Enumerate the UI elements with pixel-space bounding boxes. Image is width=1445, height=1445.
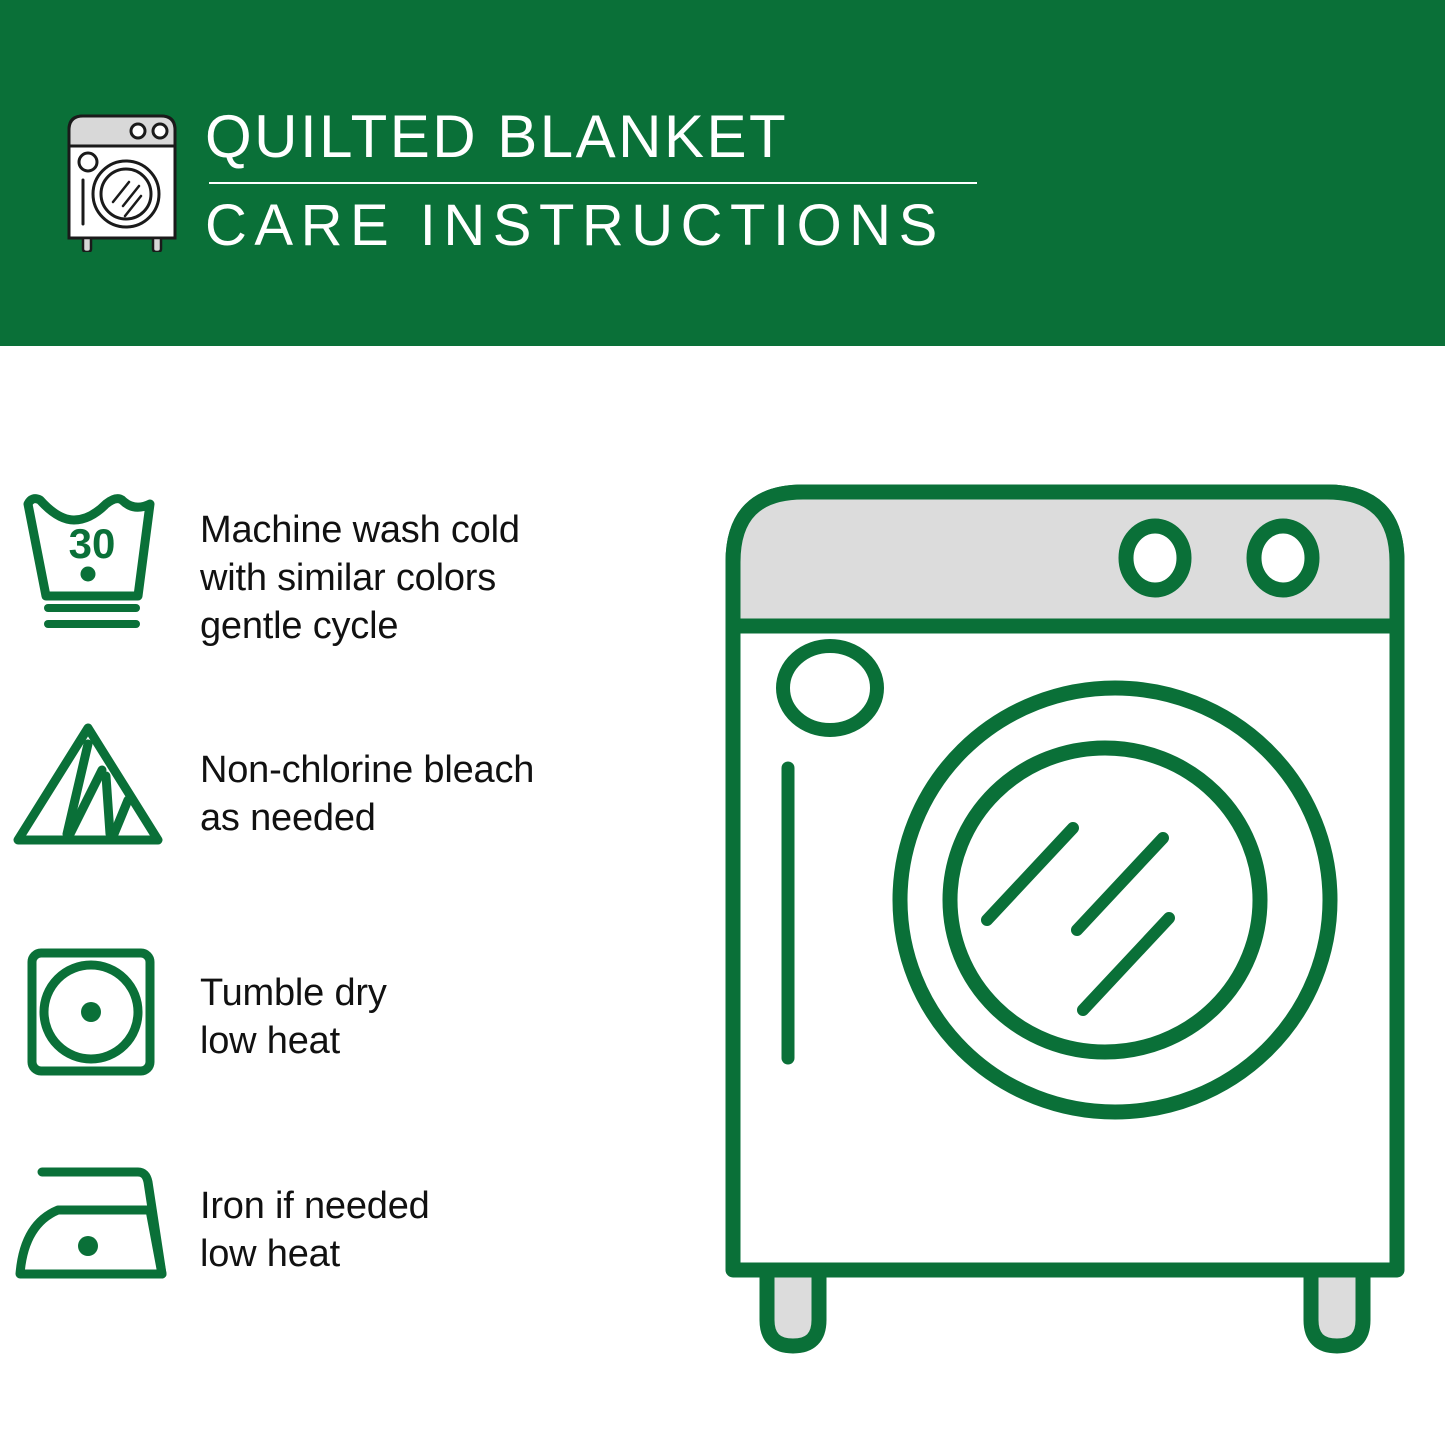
title-divider bbox=[209, 182, 977, 184]
care-row-tumble-dry: Tumble dry low heat bbox=[0, 941, 700, 1083]
knob-right[interactable] bbox=[1254, 526, 1312, 590]
care-instructions-graphic: QUILTED BLANKET CARE INSTRUCTIONS 30 bbox=[0, 0, 1445, 1445]
iron-low-heat-icon bbox=[0, 1158, 190, 1288]
leg-right bbox=[1311, 1270, 1363, 1346]
care-line: Machine wash cold bbox=[200, 506, 700, 554]
care-line: Non-chlorine bleach bbox=[200, 746, 700, 794]
care-row-iron: Iron if needed low heat bbox=[0, 1158, 700, 1288]
care-line: gentle cycle bbox=[200, 602, 700, 650]
care-line: as needed bbox=[200, 794, 700, 842]
page-subtitle: CARE INSTRUCTIONS bbox=[205, 190, 1005, 262]
care-line: Iron if needed bbox=[200, 1182, 700, 1230]
care-text-iron: Iron if needed low heat bbox=[190, 1158, 700, 1278]
care-text-machine-wash: Machine wash cold with similar colors ge… bbox=[190, 486, 700, 650]
care-text-tumble-dry: Tumble dry low heat bbox=[190, 941, 700, 1065]
care-row-bleach: Non-chlorine bleach as needed bbox=[0, 714, 700, 856]
wash-tub-30-gentle-icon: 30 bbox=[0, 486, 190, 636]
wash-temperature-label: 30 bbox=[69, 520, 116, 567]
care-line: low heat bbox=[200, 1017, 700, 1065]
leg-left bbox=[767, 1270, 819, 1346]
page-title: QUILTED BLANKET bbox=[205, 100, 1005, 174]
care-line: Tumble dry bbox=[200, 969, 700, 1017]
care-line: with similar colors bbox=[200, 554, 700, 602]
washing-machine-icon bbox=[63, 104, 181, 252]
care-text-bleach: Non-chlorine bleach as needed bbox=[190, 714, 700, 842]
care-line: low heat bbox=[200, 1230, 700, 1278]
care-row-machine-wash: 30 Machine wash cold with similar colors… bbox=[0, 486, 700, 650]
non-chlorine-bleach-triangle-icon bbox=[0, 714, 190, 856]
header-banner: QUILTED BLANKET CARE INSTRUCTIONS bbox=[0, 0, 1445, 346]
care-instruction-list: 30 Machine wash cold with similar colors… bbox=[0, 346, 700, 1445]
header-title-block: QUILTED BLANKET CARE INSTRUCTIONS bbox=[205, 100, 1005, 262]
tumble-dry-low-heat-icon bbox=[0, 941, 190, 1083]
knob-left[interactable] bbox=[1126, 526, 1184, 590]
front-load-washing-machine-illustration bbox=[715, 470, 1415, 1360]
detergent-dispenser-circle[interactable] bbox=[783, 646, 877, 730]
